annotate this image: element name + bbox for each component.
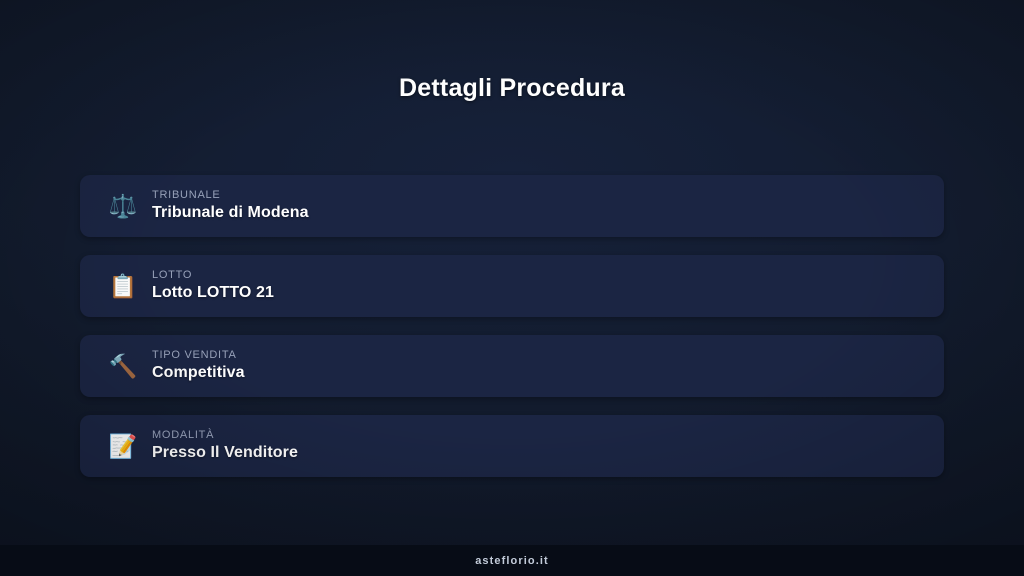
- detail-value: Presso Il Venditore: [152, 444, 298, 462]
- detail-card-modalita: 📝 MODALITÀ Presso Il Venditore: [80, 415, 944, 477]
- detail-label: MODALITÀ: [152, 429, 298, 441]
- detail-card-text: TRIBUNALE Tribunale di Modena: [152, 189, 309, 222]
- detail-value: Competitiva: [152, 364, 245, 382]
- detail-card-text: TIPO VENDITA Competitiva: [152, 349, 245, 382]
- detail-label: TIPO VENDITA: [152, 349, 245, 361]
- detail-card-lotto: 📋 LOTTO Lotto LOTTO 21: [80, 255, 944, 317]
- detail-value: Tribunale di Modena: [152, 204, 309, 222]
- balance-scale-icon: ⚖️: [108, 191, 138, 221]
- page-title: Dettagli Procedura: [0, 74, 1024, 103]
- screen-root: Dettagli Procedura ⚖️ TRIBUNALE Tribunal…: [0, 0, 1024, 576]
- detail-label: LOTTO: [152, 269, 274, 281]
- detail-card-list: ⚖️ TRIBUNALE Tribunale di Modena 📋 LOTTO…: [80, 175, 944, 477]
- detail-card-text: LOTTO Lotto LOTTO 21: [152, 269, 274, 302]
- detail-card-tribunale: ⚖️ TRIBUNALE Tribunale di Modena: [80, 175, 944, 237]
- detail-card-text: MODALITÀ Presso Il Venditore: [152, 429, 298, 462]
- detail-card-tipo-vendita: 🔨 TIPO VENDITA Competitiva: [80, 335, 944, 397]
- detail-label: TRIBUNALE: [152, 189, 309, 201]
- detail-value: Lotto LOTTO 21: [152, 284, 274, 302]
- footer-bar: asteflorio.it: [0, 545, 1024, 576]
- footer-site-label: asteflorio.it: [475, 555, 549, 567]
- memo-icon: 📝: [108, 431, 138, 461]
- clipboard-icon: 📋: [108, 271, 138, 301]
- hammer-icon: 🔨: [108, 351, 138, 381]
